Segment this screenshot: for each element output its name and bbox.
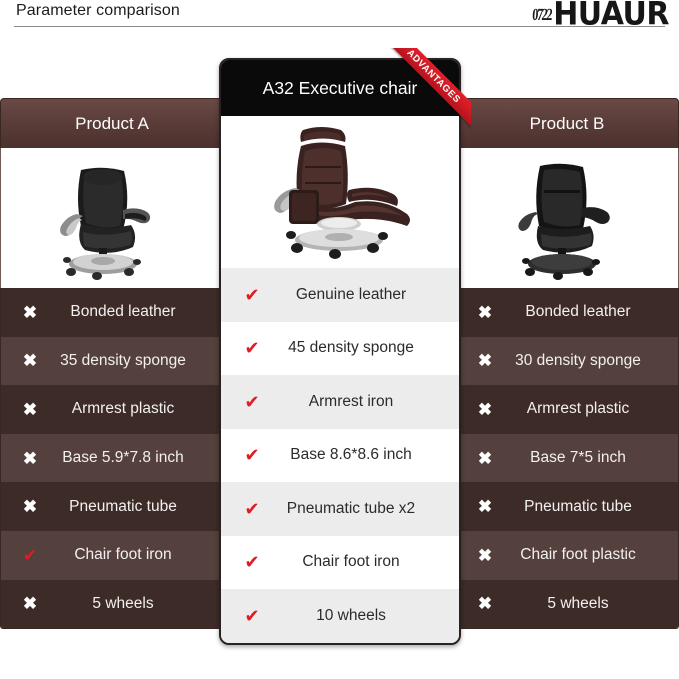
- feature-label: Base 7*5 inch: [500, 449, 678, 467]
- check-icon: ✔: [15, 547, 45, 564]
- table-row: ✖ Base 7*5 inch: [456, 434, 678, 483]
- feature-label: Base 5.9*7.8 inch: [45, 449, 223, 467]
- product-b-column: Product B: [455, 98, 679, 629]
- table-row: ✖ 5 wheels: [456, 580, 678, 629]
- brown-executive-chair-icon: [251, 118, 429, 266]
- feature-label: Pneumatic tube x2: [267, 500, 459, 518]
- feature-label: Chair foot plastic: [500, 546, 678, 564]
- check-icon: ✔: [237, 446, 267, 464]
- table-row: ✔ Chair foot iron: [221, 536, 459, 590]
- table-row: ✖ Armrest plastic: [456, 385, 678, 434]
- brand-logo: 0722 HUAUR: [525, 0, 669, 30]
- feature-label: 10 wheels: [267, 607, 459, 625]
- table-row: ✖ Chair foot plastic: [456, 531, 678, 580]
- feature-label: 45 density sponge: [267, 339, 459, 357]
- cross-icon: ✖: [15, 450, 45, 467]
- cross-icon: ✖: [15, 498, 45, 515]
- featured-product-image: [221, 116, 459, 268]
- feature-label: Armrest iron: [267, 393, 459, 411]
- product-a-column: Product A: [0, 98, 224, 629]
- feature-label: Chair foot iron: [45, 546, 223, 564]
- feature-label: 5 wheels: [500, 595, 678, 613]
- check-icon: ✔: [237, 500, 267, 518]
- check-icon: ✔: [237, 393, 267, 411]
- table-row: ✔ Chair foot iron: [1, 531, 223, 580]
- check-icon: ✔: [237, 339, 267, 357]
- feature-label: Chair foot iron: [267, 553, 459, 571]
- black-office-chair-icon: [37, 152, 187, 284]
- table-row: ✔ Base 8.6*8.6 inch: [221, 429, 459, 483]
- brand-name: HUAUR: [553, 0, 669, 31]
- table-row: ✖ Pneumatic tube: [1, 482, 223, 531]
- table-row: ✔ Armrest iron: [221, 375, 459, 429]
- product-a-header: Product A: [0, 98, 224, 148]
- table-row: ✖ 30 density sponge: [456, 337, 678, 386]
- feature-label: Pneumatic tube: [45, 498, 223, 516]
- table-row: ✖ Bonded leather: [456, 288, 678, 337]
- table-row: ✔ 10 wheels: [221, 589, 459, 643]
- feature-label: Bonded leather: [500, 303, 678, 321]
- feature-label: 30 density sponge: [500, 352, 678, 370]
- product-b-title: Product B: [530, 114, 605, 134]
- feature-label: Armrest plastic: [45, 400, 223, 418]
- table-row: ✔ Pneumatic tube x2: [221, 482, 459, 536]
- featured-product-title: A32 Executive chair: [263, 78, 418, 99]
- page-title: Parameter comparison: [16, 2, 180, 20]
- product-a-rows: ✖ Bonded leather ✖ 35 density sponge ✖ A…: [0, 288, 224, 629]
- feature-label: Genuine leather: [267, 286, 459, 304]
- cross-icon: ✖: [470, 595, 500, 612]
- featured-product-card: A32 Executive chair: [219, 58, 461, 645]
- table-row: ✔ 45 density sponge: [221, 322, 459, 376]
- table-row: ✖ Armrest plastic: [1, 385, 223, 434]
- black-office-chair-b-icon: [492, 152, 642, 284]
- check-icon: ✔: [237, 553, 267, 571]
- check-icon: ✔: [237, 607, 267, 625]
- brand-code: 0722: [532, 5, 552, 25]
- cross-icon: ✖: [470, 352, 500, 369]
- product-b-header: Product B: [455, 98, 679, 148]
- product-b-image: [455, 148, 679, 288]
- cross-icon: ✖: [470, 498, 500, 515]
- table-row: ✔ Genuine leather: [221, 268, 459, 322]
- cross-icon: ✖: [15, 401, 45, 418]
- feature-label: Pneumatic tube: [500, 498, 678, 516]
- feature-label: Armrest plastic: [500, 400, 678, 418]
- table-row: ✖ 35 density sponge: [1, 337, 223, 386]
- product-b-rows: ✖ Bonded leather ✖ 30 density sponge ✖ A…: [455, 288, 679, 629]
- table-row: ✖ Base 5.9*7.8 inch: [1, 434, 223, 483]
- feature-label: Bonded leather: [45, 303, 223, 321]
- featured-product-header: A32 Executive chair: [221, 60, 459, 116]
- cross-icon: ✖: [470, 401, 500, 418]
- cross-icon: ✖: [15, 304, 45, 321]
- cross-icon: ✖: [15, 595, 45, 612]
- cross-icon: ✖: [470, 547, 500, 564]
- featured-card-inner: A32 Executive chair: [221, 60, 459, 643]
- cross-icon: ✖: [470, 304, 500, 321]
- cross-icon: ✖: [470, 450, 500, 467]
- feature-label: Base 8.6*8.6 inch: [267, 446, 459, 464]
- table-row: ✖ 5 wheels: [1, 580, 223, 629]
- feature-label: 35 density sponge: [45, 352, 223, 370]
- check-icon: ✔: [237, 286, 267, 304]
- table-row: ✖ Bonded leather: [1, 288, 223, 337]
- feature-label: 5 wheels: [45, 595, 223, 613]
- product-a-title: Product A: [75, 114, 149, 134]
- page-header: Parameter comparison 0722 HUAUR: [0, 0, 679, 34]
- product-a-image: [0, 148, 224, 288]
- cross-icon: ✖: [15, 352, 45, 369]
- table-row: ✖ Pneumatic tube: [456, 482, 678, 531]
